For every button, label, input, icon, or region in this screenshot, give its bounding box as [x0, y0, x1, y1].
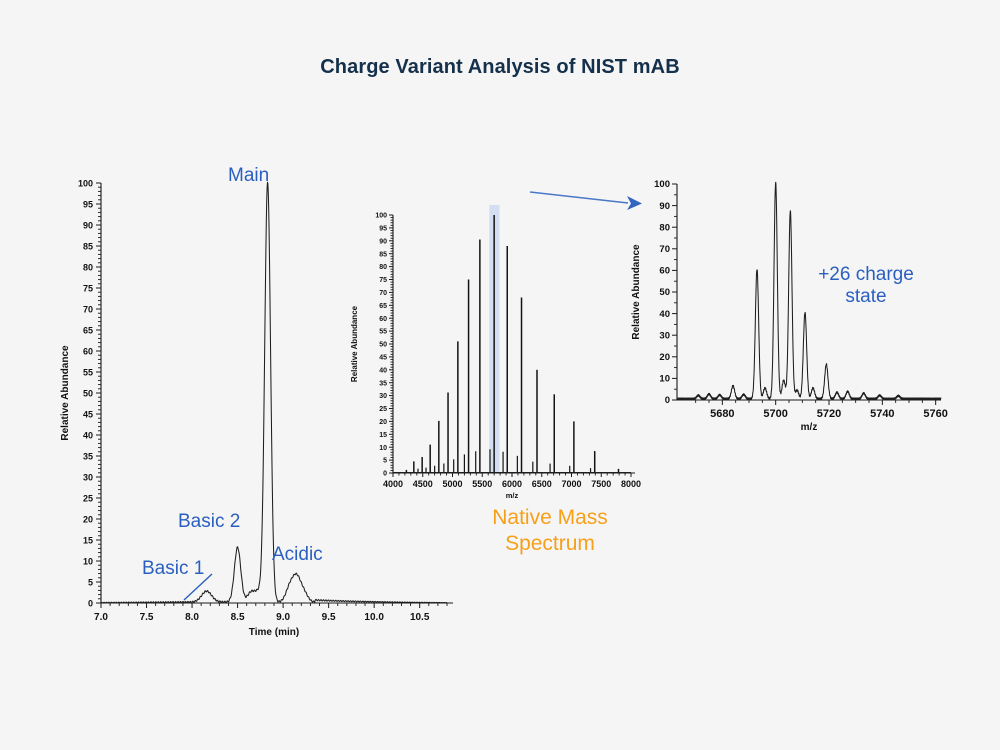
caption-line-2: Spectrum — [472, 531, 628, 557]
x-tick-label: 6500 — [532, 479, 552, 489]
y-tick-label: 60 — [379, 316, 387, 323]
y-tick-label: 35 — [379, 380, 387, 387]
y-tick-label: 50 — [83, 388, 93, 398]
y-tick-label: 100 — [78, 178, 93, 188]
y-tick-label: 50 — [659, 287, 670, 298]
x-tick-label: 5700 — [763, 408, 787, 420]
y-tick-label: 5 — [88, 577, 93, 587]
y-tick-label: 10 — [379, 445, 387, 452]
x-tick-label: 5000 — [442, 479, 462, 489]
y-tick-label: 80 — [659, 222, 670, 233]
x-tick-label: 9.0 — [276, 612, 290, 623]
x-tick-label: 5500 — [472, 479, 492, 489]
y-tick-label: 0 — [383, 471, 387, 478]
page-title: Charge Variant Analysis of NIST mAB — [0, 56, 1000, 79]
x-tick-label: 8.5 — [231, 612, 245, 623]
x-tick-label: 7000 — [561, 479, 581, 489]
y-tick-label: 30 — [659, 330, 670, 341]
annotation-main: Main — [228, 165, 269, 187]
y-tick-label: 35 — [83, 451, 93, 461]
x-tick-label: 9.5 — [322, 612, 336, 623]
y-tick-label: 40 — [379, 367, 387, 374]
x-axis-title: Time (min) — [249, 627, 299, 638]
y-tick-label: 45 — [379, 355, 387, 362]
x-tick-label: 6000 — [502, 479, 522, 489]
y-tick-label: 15 — [83, 535, 93, 545]
y-tick-label: 45 — [83, 409, 93, 419]
y-tick-label: 30 — [83, 472, 93, 482]
x-tick-label: 5760 — [923, 408, 947, 420]
y-tick-label: 90 — [379, 238, 387, 245]
y-tick-label: 90 — [659, 201, 670, 212]
y-tick-label: 50 — [379, 342, 387, 349]
y-tick-label: 80 — [379, 264, 387, 271]
x-tick-label: 8000 — [621, 479, 641, 489]
y-tick-label: 95 — [83, 199, 93, 209]
x-tick-label: 8.0 — [185, 612, 199, 623]
y-tick-label: 70 — [659, 244, 670, 255]
native-mass-spectrum-caption: Native Mass Spectrum — [472, 505, 628, 556]
caption-line-1: Native Mass — [472, 505, 628, 531]
y-tick-label: 40 — [83, 430, 93, 440]
y-tick-label: 65 — [83, 325, 93, 335]
y-tick-label: 75 — [83, 283, 93, 293]
x-tick-label: 7.0 — [94, 612, 108, 623]
basic-1-leader-line — [180, 572, 220, 604]
y-tick-label: 100 — [375, 213, 387, 220]
y-tick-label: 25 — [379, 406, 387, 413]
x-tick-label: 5740 — [870, 408, 894, 420]
y-tick-label: 55 — [379, 329, 387, 336]
charge-state-peaks — [406, 215, 618, 473]
y-tick-label: 75 — [379, 277, 387, 284]
y-tick-label: 55 — [83, 367, 93, 377]
y-axis-title: Relative Abundance — [631, 244, 642, 340]
x-tick-label: 4500 — [413, 479, 433, 489]
y-tick-label: 20 — [379, 419, 387, 426]
y-tick-label: 25 — [83, 493, 93, 503]
y-tick-label: 90 — [83, 220, 93, 230]
x-tick-label: 7.5 — [140, 612, 154, 623]
y-tick-label: 0 — [665, 395, 670, 406]
x-tick-label: 5720 — [817, 408, 841, 420]
annotation-charge-state: +26 charge state — [808, 264, 924, 308]
y-tick-label: 10 — [659, 374, 670, 385]
y-tick-label: 5 — [383, 458, 387, 465]
y-tick-label: 100 — [654, 179, 670, 190]
x-tick-label: 10.5 — [410, 612, 430, 623]
y-tick-label: 60 — [659, 266, 670, 277]
y-tick-label: 70 — [83, 304, 93, 314]
x-tick-label: 5680 — [710, 408, 734, 420]
y-tick-label: 30 — [379, 393, 387, 400]
y-tick-label: 60 — [83, 346, 93, 356]
y-tick-label: 85 — [83, 241, 93, 251]
y-tick-label: 20 — [83, 514, 93, 524]
figure-canvas: Charge Variant Analysis of NIST mAB 0510… — [0, 0, 1000, 750]
annotation-acidic: Acidic — [272, 544, 323, 566]
y-tick-label: 80 — [83, 262, 93, 272]
y-tick-label: 95 — [379, 226, 387, 233]
x-tick-label: 7500 — [591, 479, 611, 489]
x-tick-label: 4000 — [383, 479, 403, 489]
x-axis-title: m/z — [506, 491, 519, 500]
y-tick-label: 20 — [659, 352, 670, 363]
x-axis-title: m/z — [801, 422, 818, 433]
y-tick-label: 0 — [88, 598, 93, 608]
native-mass-spectrum-chart: 0510152025303540455055606570758085909510… — [345, 205, 645, 505]
annotation-basic-2: Basic 2 — [178, 511, 240, 533]
y-tick-label: 40 — [659, 309, 670, 320]
y-tick-label: 10 — [83, 556, 93, 566]
y-tick-label: 15 — [379, 432, 387, 439]
y-axis-title: Relative Abundance — [350, 305, 359, 382]
x-tick-label: 10.0 — [364, 612, 384, 623]
y-axis-title: Relative Abundance — [60, 345, 71, 441]
y-tick-label: 70 — [379, 290, 387, 297]
y-tick-label: 85 — [379, 251, 387, 258]
y-tick-label: 65 — [379, 303, 387, 310]
